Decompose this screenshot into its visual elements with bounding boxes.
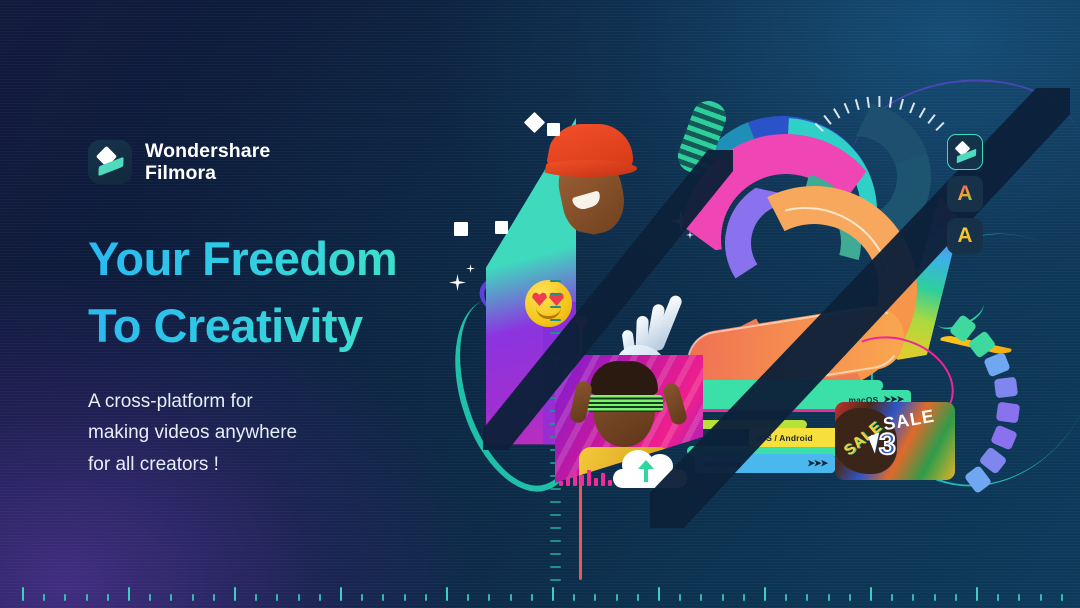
brand-product-name: Filmora — [145, 162, 270, 184]
vruler-tick — [550, 280, 561, 282]
subtitle-text: A cross-platform for making videos anywh… — [88, 386, 488, 481]
chiclet-segment — [993, 377, 1017, 399]
fan-tick — [823, 115, 831, 125]
ruler-tick — [382, 594, 384, 601]
ruler-tick — [234, 587, 236, 601]
ruler-tick — [573, 594, 575, 601]
ruler-tick — [849, 594, 851, 601]
ruler-tick — [319, 594, 321, 601]
fan-tick — [833, 108, 840, 118]
subtitle-line-2: making videos anywhere — [88, 417, 488, 449]
ruler-tick — [955, 594, 957, 601]
text-tool-glyph-pink: A — [957, 182, 972, 206]
ruler-tick — [997, 594, 999, 601]
fan-tick — [866, 97, 870, 108]
vruler-tick — [550, 514, 561, 516]
vruler-tick — [550, 332, 561, 334]
filmora-logo-tile[interactable] — [947, 134, 983, 170]
ruler-tick — [340, 587, 342, 601]
ruler-tick — [425, 594, 427, 601]
white-diamond-marker — [524, 112, 545, 133]
ruler-tick — [976, 587, 978, 601]
subtitle-line-1: A cross-platform for — [88, 386, 488, 418]
equalizer-bar — [601, 473, 605, 486]
ruler-tick — [700, 594, 702, 601]
headline-line-1: Your Freedom — [88, 226, 488, 293]
filmora-logo-icon — [88, 140, 132, 184]
ruler-tick — [86, 594, 88, 601]
brand-company-name: Wondershare — [145, 140, 270, 162]
ruler-tick — [552, 587, 554, 601]
page-title: Your Freedom To Creativity — [88, 226, 488, 359]
ruler-tick — [806, 594, 808, 601]
ruler-tick — [531, 594, 533, 601]
ruler-tick — [404, 594, 406, 601]
ruler-tick — [764, 587, 766, 601]
sale-sticker-card: 3 SALE SALE — [835, 402, 955, 480]
brand-lockup: Wondershare Filmora — [88, 140, 488, 184]
vruler-tick — [550, 540, 561, 542]
vruler-tick — [550, 293, 561, 295]
ruler-tick — [192, 594, 194, 601]
ruler-tick — [828, 594, 830, 601]
poster-canvas: Wondershare Filmora Your Freedom To Crea… — [0, 0, 1080, 608]
fan-tick — [935, 122, 944, 131]
vruler-tick — [550, 527, 561, 529]
ruler-tick — [488, 594, 490, 601]
left-content-column: Wondershare Filmora Your Freedom To Crea… — [88, 140, 488, 481]
vruler-tick — [550, 553, 561, 555]
white-square-marker-2 — [454, 222, 468, 236]
ruler-tick — [679, 594, 681, 601]
ruler-tick — [467, 594, 469, 601]
fan-tick — [899, 99, 904, 110]
ruler-tick — [891, 594, 893, 601]
fan-tick — [909, 102, 915, 113]
ruler-tick — [276, 594, 278, 601]
ruler-tick — [255, 594, 257, 601]
ruler-tick — [149, 594, 151, 601]
subtitle-line-3: for all creators ! — [88, 449, 488, 481]
equalizer-bar — [580, 475, 584, 486]
emoji-heart-left — [532, 292, 547, 306]
ruler-tick — [22, 587, 24, 601]
fan-tick — [844, 103, 850, 114]
fan-tick — [878, 96, 880, 107]
vruler-tick — [550, 488, 561, 490]
ruler-tick — [1018, 594, 1020, 601]
fan-tick — [855, 99, 860, 110]
ruler-tick — [616, 594, 618, 601]
brand-name: Wondershare Filmora — [145, 140, 270, 184]
vruler-tick — [550, 319, 561, 321]
equalizer-bar — [608, 480, 612, 486]
equalizer-bar — [566, 477, 570, 486]
ruler-tick — [870, 587, 872, 601]
red-hat-brim — [539, 160, 637, 177]
ruler-tick — [594, 594, 596, 601]
neon-shutter-sunglasses — [587, 395, 663, 412]
ruler-tick — [43, 594, 45, 601]
ruler-tick — [722, 594, 724, 601]
equalizer-bar — [594, 478, 598, 486]
badge-windows-chevrons: ➤➤➤ — [807, 458, 827, 469]
bottom-timeline-ruler — [0, 582, 1080, 608]
vruler-tick — [550, 579, 561, 581]
chiclet-segment — [996, 402, 1020, 424]
fan-tick — [927, 114, 935, 124]
ruler-tick — [743, 594, 745, 601]
sparkle-icon-left-small — [466, 264, 475, 273]
ruler-tick — [1040, 594, 1042, 601]
equalizer-bar — [587, 470, 591, 486]
ruler-tick — [510, 594, 512, 601]
ruler-tick — [1061, 594, 1063, 601]
sticker-sale-text-white: SALE — [882, 406, 937, 436]
ruler-tick — [107, 594, 109, 601]
ruler-tick — [912, 594, 914, 601]
ruler-tick — [128, 587, 130, 601]
ruler-tick — [446, 587, 448, 601]
tool-tile-stack: A A — [947, 134, 987, 260]
ruler-tick — [170, 594, 172, 601]
ruler-tick — [658, 587, 660, 601]
ruler-tick — [637, 594, 639, 601]
ruler-tick — [934, 594, 936, 601]
ruler-tick — [785, 594, 787, 601]
headline-line-2: To Creativity — [88, 293, 488, 360]
vruler-tick — [550, 306, 561, 308]
vruler-tick — [550, 501, 561, 503]
equalizer-bar — [559, 481, 563, 486]
ruler-tick — [298, 594, 300, 601]
hero-artwork: macOS ➤➤➤ iOS / Android Windows ➤➤➤ — [455, 90, 1055, 520]
fan-tick — [815, 123, 824, 132]
vruler-tick — [550, 566, 561, 568]
ruler-tick — [213, 594, 215, 601]
upload-arrow — [644, 465, 648, 482]
ruler-tick — [361, 594, 363, 601]
fan-tick — [889, 97, 892, 108]
white-square-marker-1 — [547, 123, 560, 136]
white-square-marker-3 — [495, 221, 508, 234]
text-tool-tile-pink[interactable]: A — [947, 176, 983, 212]
text-tool-tile-yellow[interactable]: A — [947, 218, 983, 254]
equalizer-bar — [573, 472, 577, 486]
ruler-tick — [64, 594, 66, 601]
fan-tick — [919, 108, 926, 119]
text-tool-glyph-yellow: A — [957, 224, 972, 248]
heart-eyes-emoji — [525, 280, 572, 327]
